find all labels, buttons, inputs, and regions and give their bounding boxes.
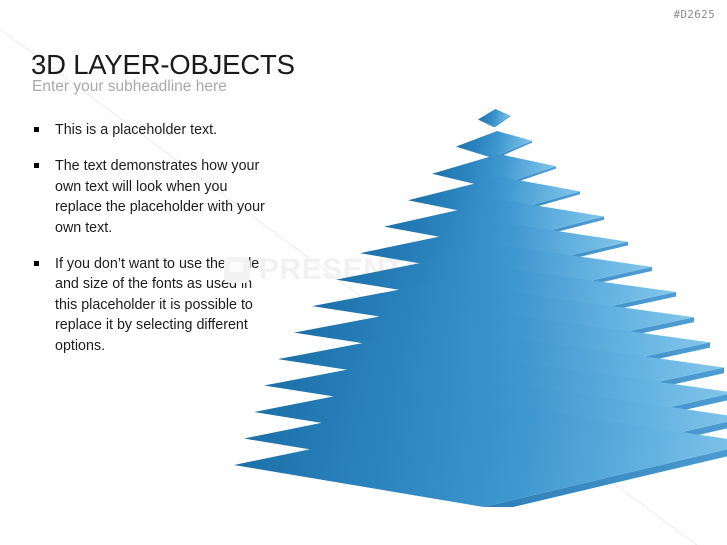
layer-top-face	[478, 109, 510, 127]
bullet-list: This is a placeholder text. The text dem…	[33, 120, 278, 372]
bullet-square-icon	[34, 163, 39, 168]
list-item-text: The text demonstrates how your own text …	[55, 158, 265, 235]
list-item-text: If you don’t want to use the style and s…	[55, 256, 259, 354]
list-item-text: This is a placeholder text.	[55, 122, 217, 138]
bullet-square-icon	[34, 261, 39, 266]
document-code: #D2625	[673, 8, 715, 21]
stack-layer-1	[478, 109, 510, 127]
list-item: If you don’t want to use the style and s…	[33, 254, 278, 356]
page-title: 3D LAYER-OBJECTS	[31, 49, 295, 81]
bullet-square-icon	[34, 127, 39, 132]
list-item: This is a placeholder text.	[33, 120, 278, 140]
list-item: The text demonstrates how your own text …	[33, 156, 278, 238]
layer-stack-graphic: PRESENTATIONLOAD	[250, 95, 727, 515]
layer-top-face	[234, 407, 727, 507]
page-subtitle: Enter your subheadline here	[32, 78, 227, 96]
layer-stack	[250, 95, 727, 515]
stack-layer-14	[234, 407, 727, 507]
slide-canvas: #D2625 3D LAYER-OBJECTS Enter your subhe…	[0, 0, 727, 545]
